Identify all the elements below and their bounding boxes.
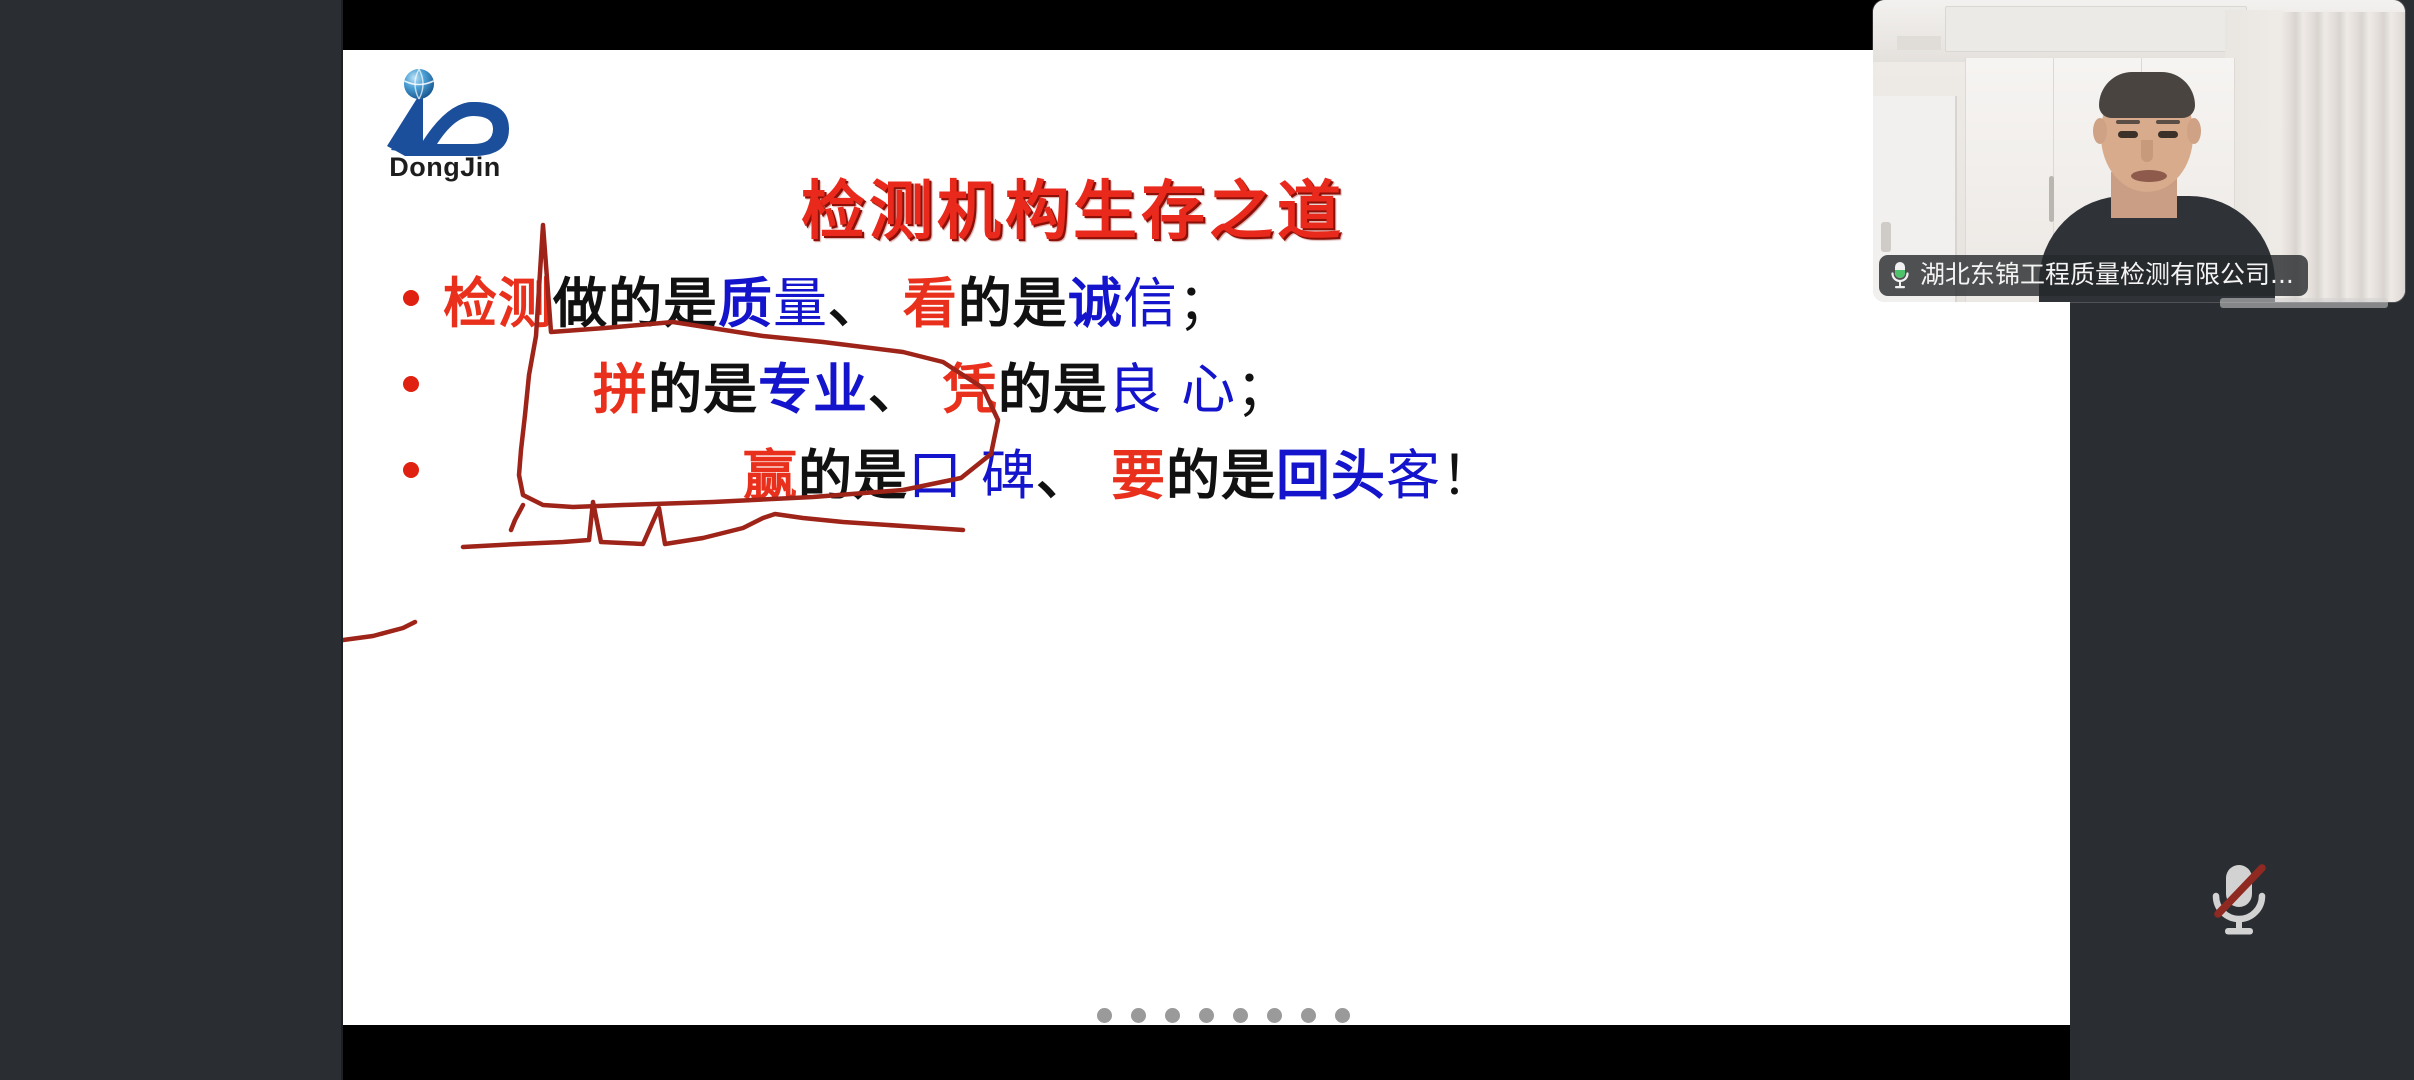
left-gutter <box>0 0 341 1080</box>
text-segment-6: 回头 <box>1276 444 1386 507</box>
bullet-dot <box>403 290 419 306</box>
text-segment-2: 质 <box>718 272 773 335</box>
text-segment-3: 、 <box>1036 444 1091 507</box>
text-segment-1: 的是 <box>648 358 758 421</box>
shared-screen-region[interactable]: DongJin 检测机构生存之道 检测做的是质量、 看的是诚信； 拼的是专业、 … <box>343 0 2070 1080</box>
participant-name: 湖北东锦工程质量检测有限公司... <box>1920 260 2294 290</box>
page-dot-2[interactable] <box>1097 1008 1112 1023</box>
page-dot-9[interactable] <box>1335 1008 1350 1023</box>
page-dot-4[interactable] <box>1165 1008 1180 1023</box>
microphone-active-icon <box>1889 260 1911 290</box>
meeting-stage: DongJin 检测机构生存之道 检测做的是质量、 看的是诚信； 拼的是专业、 … <box>0 0 2414 1080</box>
page-dot-5[interactable] <box>1199 1008 1214 1023</box>
text-segment-3: 量 <box>773 272 828 335</box>
tile-edge-highlight <box>2220 298 2388 308</box>
page-dot-3[interactable] <box>1131 1008 1146 1023</box>
text-segment-1: 做的是 <box>553 272 718 335</box>
text-segment-5: 看 <box>883 272 958 335</box>
text-segment-4: 凭 <box>923 358 998 421</box>
text-segment-2: 口 碑 <box>908 444 1036 507</box>
text-segment-4: 、 <box>828 272 883 335</box>
participant-name-pill: 湖北东锦工程质量检测有限公司... <box>1879 255 2308 296</box>
text-segment-2: 专业 <box>758 358 868 421</box>
slide-title: 检测机构生存之道 <box>343 160 1803 252</box>
bullet-line-3-text: 赢的是口 碑、 要的是回头客！ <box>743 431 1496 510</box>
bullet-dot <box>403 376 419 392</box>
text-segment-6: 的是 <box>958 272 1068 335</box>
bullet-line-1: 检测做的是质量、 看的是诚信； <box>343 255 2070 341</box>
text-segment-0: 赢 <box>743 444 798 507</box>
text-segment-0: 检测 <box>443 272 553 335</box>
text-segment-1: 的是 <box>798 444 908 507</box>
bullet-dot <box>403 462 419 478</box>
text-segment-9: ； <box>1178 272 1233 335</box>
text-segment-0: 拼 <box>593 358 648 421</box>
text-segment-4: 要 <box>1091 444 1166 507</box>
page-dot-6[interactable] <box>1233 1008 1248 1023</box>
page-dot-8[interactable] <box>1301 1008 1316 1023</box>
bullet-line-2-text: 拼的是专业、 凭的是良 心； <box>593 345 1291 424</box>
text-segment-7: ； <box>1236 358 1291 421</box>
globe-icon <box>404 69 434 99</box>
text-segment-8: ！ <box>1441 444 1496 507</box>
text-segment-7: 诚 <box>1068 272 1123 335</box>
participant-video-tile[interactable]: 湖北东锦工程质量检测有限公司... <box>1873 0 2405 302</box>
page-dot-7[interactable] <box>1267 1008 1282 1023</box>
page-dot-1[interactable] <box>1063 1008 1078 1023</box>
text-segment-3: 、 <box>868 358 923 421</box>
bullet-list: 检测做的是质量、 看的是诚信； 拼的是专业、 凭的是良 心； 赢的是口 碑、 要… <box>343 255 2070 513</box>
microphone-muted-icon <box>2196 852 2282 944</box>
slide-page-dots[interactable] <box>343 1008 2070 1023</box>
text-segment-6: 良 心 <box>1108 358 1236 421</box>
text-segment-5: 的是 <box>998 358 1108 421</box>
bullet-line-2: 拼的是专业、 凭的是良 心； <box>343 341 2070 427</box>
text-segment-7: 客 <box>1386 444 1441 507</box>
text-segment-8: 信 <box>1123 272 1178 335</box>
bullet-line-1-text: 检测做的是质量、 看的是诚信； <box>443 259 1233 338</box>
self-mute-indicator[interactable] <box>2196 852 2282 944</box>
bullet-line-3: 赢的是口 碑、 要的是回头客！ <box>343 427 2070 513</box>
text-segment-5: 的是 <box>1166 444 1276 507</box>
presentation-slide[interactable]: DongJin 检测机构生存之道 检测做的是质量、 看的是诚信； 拼的是专业、 … <box>343 50 2070 1025</box>
